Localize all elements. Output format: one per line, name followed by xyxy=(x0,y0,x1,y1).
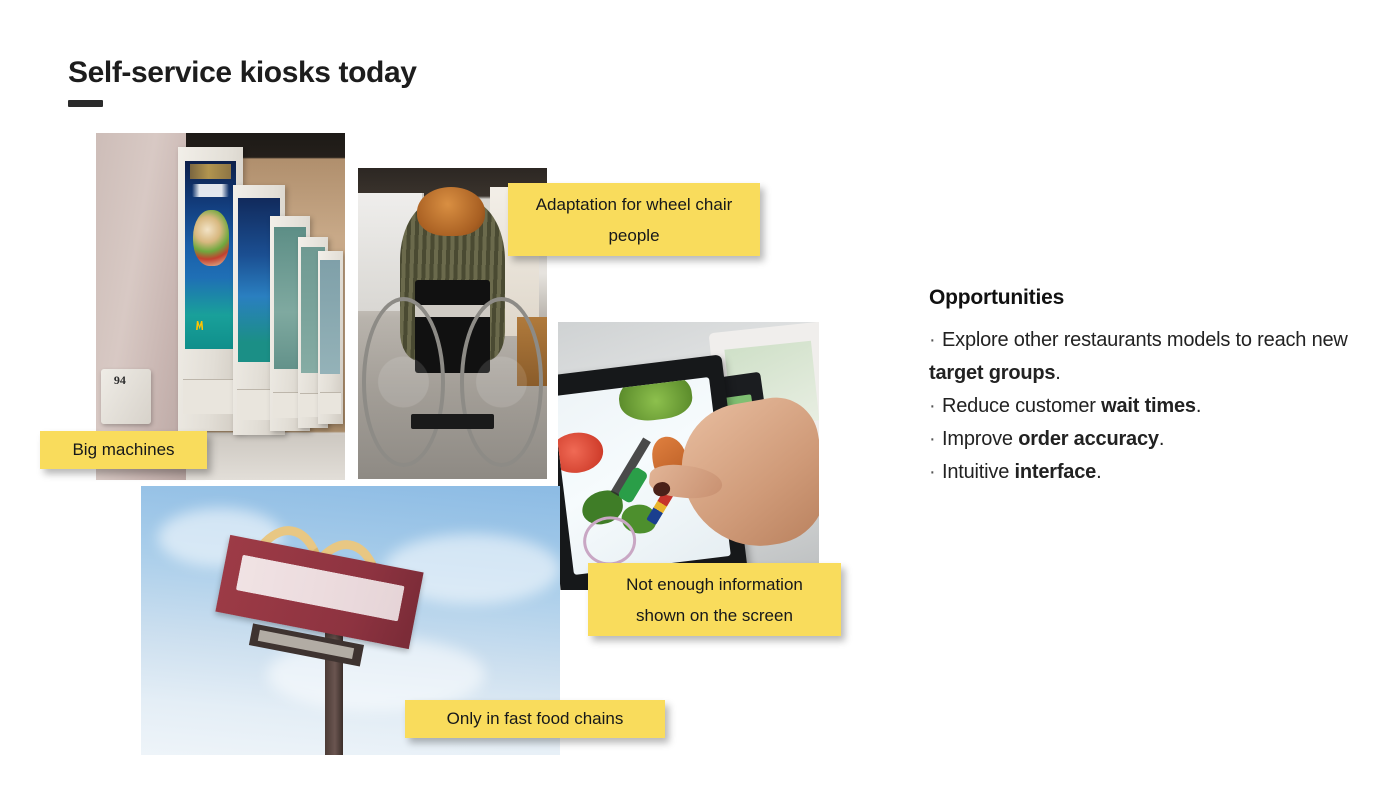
photo-kiosk-row: 94 xyxy=(96,133,345,480)
page-title: Self-service kiosks today xyxy=(68,56,417,90)
person-hair xyxy=(417,187,485,237)
kiosk-payment-tray-5 xyxy=(320,392,341,414)
opportunity-tail-1: . xyxy=(1196,395,1201,417)
opportunity-strong-2: order accuracy xyxy=(1018,428,1159,450)
mcdonalds-arches-icon xyxy=(196,321,203,330)
kiosk-screen-1 xyxy=(185,161,237,349)
title-underline-accent xyxy=(68,100,103,107)
opportunities-section: Opportunities ·Explore other restaurants… xyxy=(929,286,1359,489)
callout-only-fast-food: Only in fast food chains xyxy=(405,700,665,738)
opportunity-strong-3: interface xyxy=(1014,461,1096,483)
wheelchair-frame xyxy=(411,414,494,430)
opportunity-item-1: ·Reduce customer wait times. xyxy=(929,390,1359,423)
opportunity-strong-0: target groups xyxy=(929,362,1055,384)
kiosk-screen-5 xyxy=(320,260,340,375)
opportunity-strong-1: wait times xyxy=(1101,395,1196,417)
opportunities-heading: Opportunities xyxy=(929,286,1359,310)
lettuce-graphic xyxy=(616,377,694,424)
kiosk-payment-tray-1 xyxy=(183,379,237,414)
wheelchair-wheel-right xyxy=(460,297,544,467)
order-number-stand: 94 xyxy=(101,369,151,425)
kiosk-ad-burger-image xyxy=(193,210,229,266)
opportunity-lead-2: Improve xyxy=(942,428,1018,450)
tomato-graphic xyxy=(558,430,605,476)
opportunity-item-2: ·Improve order accuracy. xyxy=(929,423,1359,456)
order-number-text: 94 xyxy=(114,373,126,388)
kiosk-pillar xyxy=(96,133,186,480)
opportunity-tail-0: . xyxy=(1055,362,1060,384)
slide-canvas: Self-service kiosks today xyxy=(0,0,1400,788)
kiosk-unit-5 xyxy=(318,251,343,425)
wheelchair-wheel-left xyxy=(362,297,446,467)
callout-wheelchair-adaptation: Adaptation for wheel chair people xyxy=(508,183,760,256)
sign-wordmark xyxy=(235,555,404,622)
opportunity-lead-1: Reduce customer xyxy=(942,395,1101,417)
opportunity-lead-0: Explore other restaurants models to reac… xyxy=(942,329,1348,351)
kiosk-screen-banner xyxy=(190,164,231,179)
bullet-icon: · xyxy=(929,390,942,423)
bullet-icon: · xyxy=(929,324,942,357)
callout-not-enough-information: Not enough information shown on the scre… xyxy=(588,563,841,636)
opportunity-item-0: ·Explore other restaurants models to rea… xyxy=(929,324,1359,390)
opportunity-tail-2: . xyxy=(1159,428,1164,450)
bullet-icon: · xyxy=(929,423,942,456)
opportunities-list: ·Explore other restaurants models to rea… xyxy=(929,324,1359,489)
callout-big-machines: Big machines xyxy=(40,431,207,469)
opportunity-lead-3: Intuitive xyxy=(942,461,1014,483)
kiosk-ad-title xyxy=(192,184,229,197)
photo-kiosk-touchscreen xyxy=(558,322,819,590)
bullet-icon: · xyxy=(929,456,942,489)
opportunity-item-3: ·Intuitive interface. xyxy=(929,456,1359,489)
opportunity-tail-3: . xyxy=(1096,461,1101,483)
